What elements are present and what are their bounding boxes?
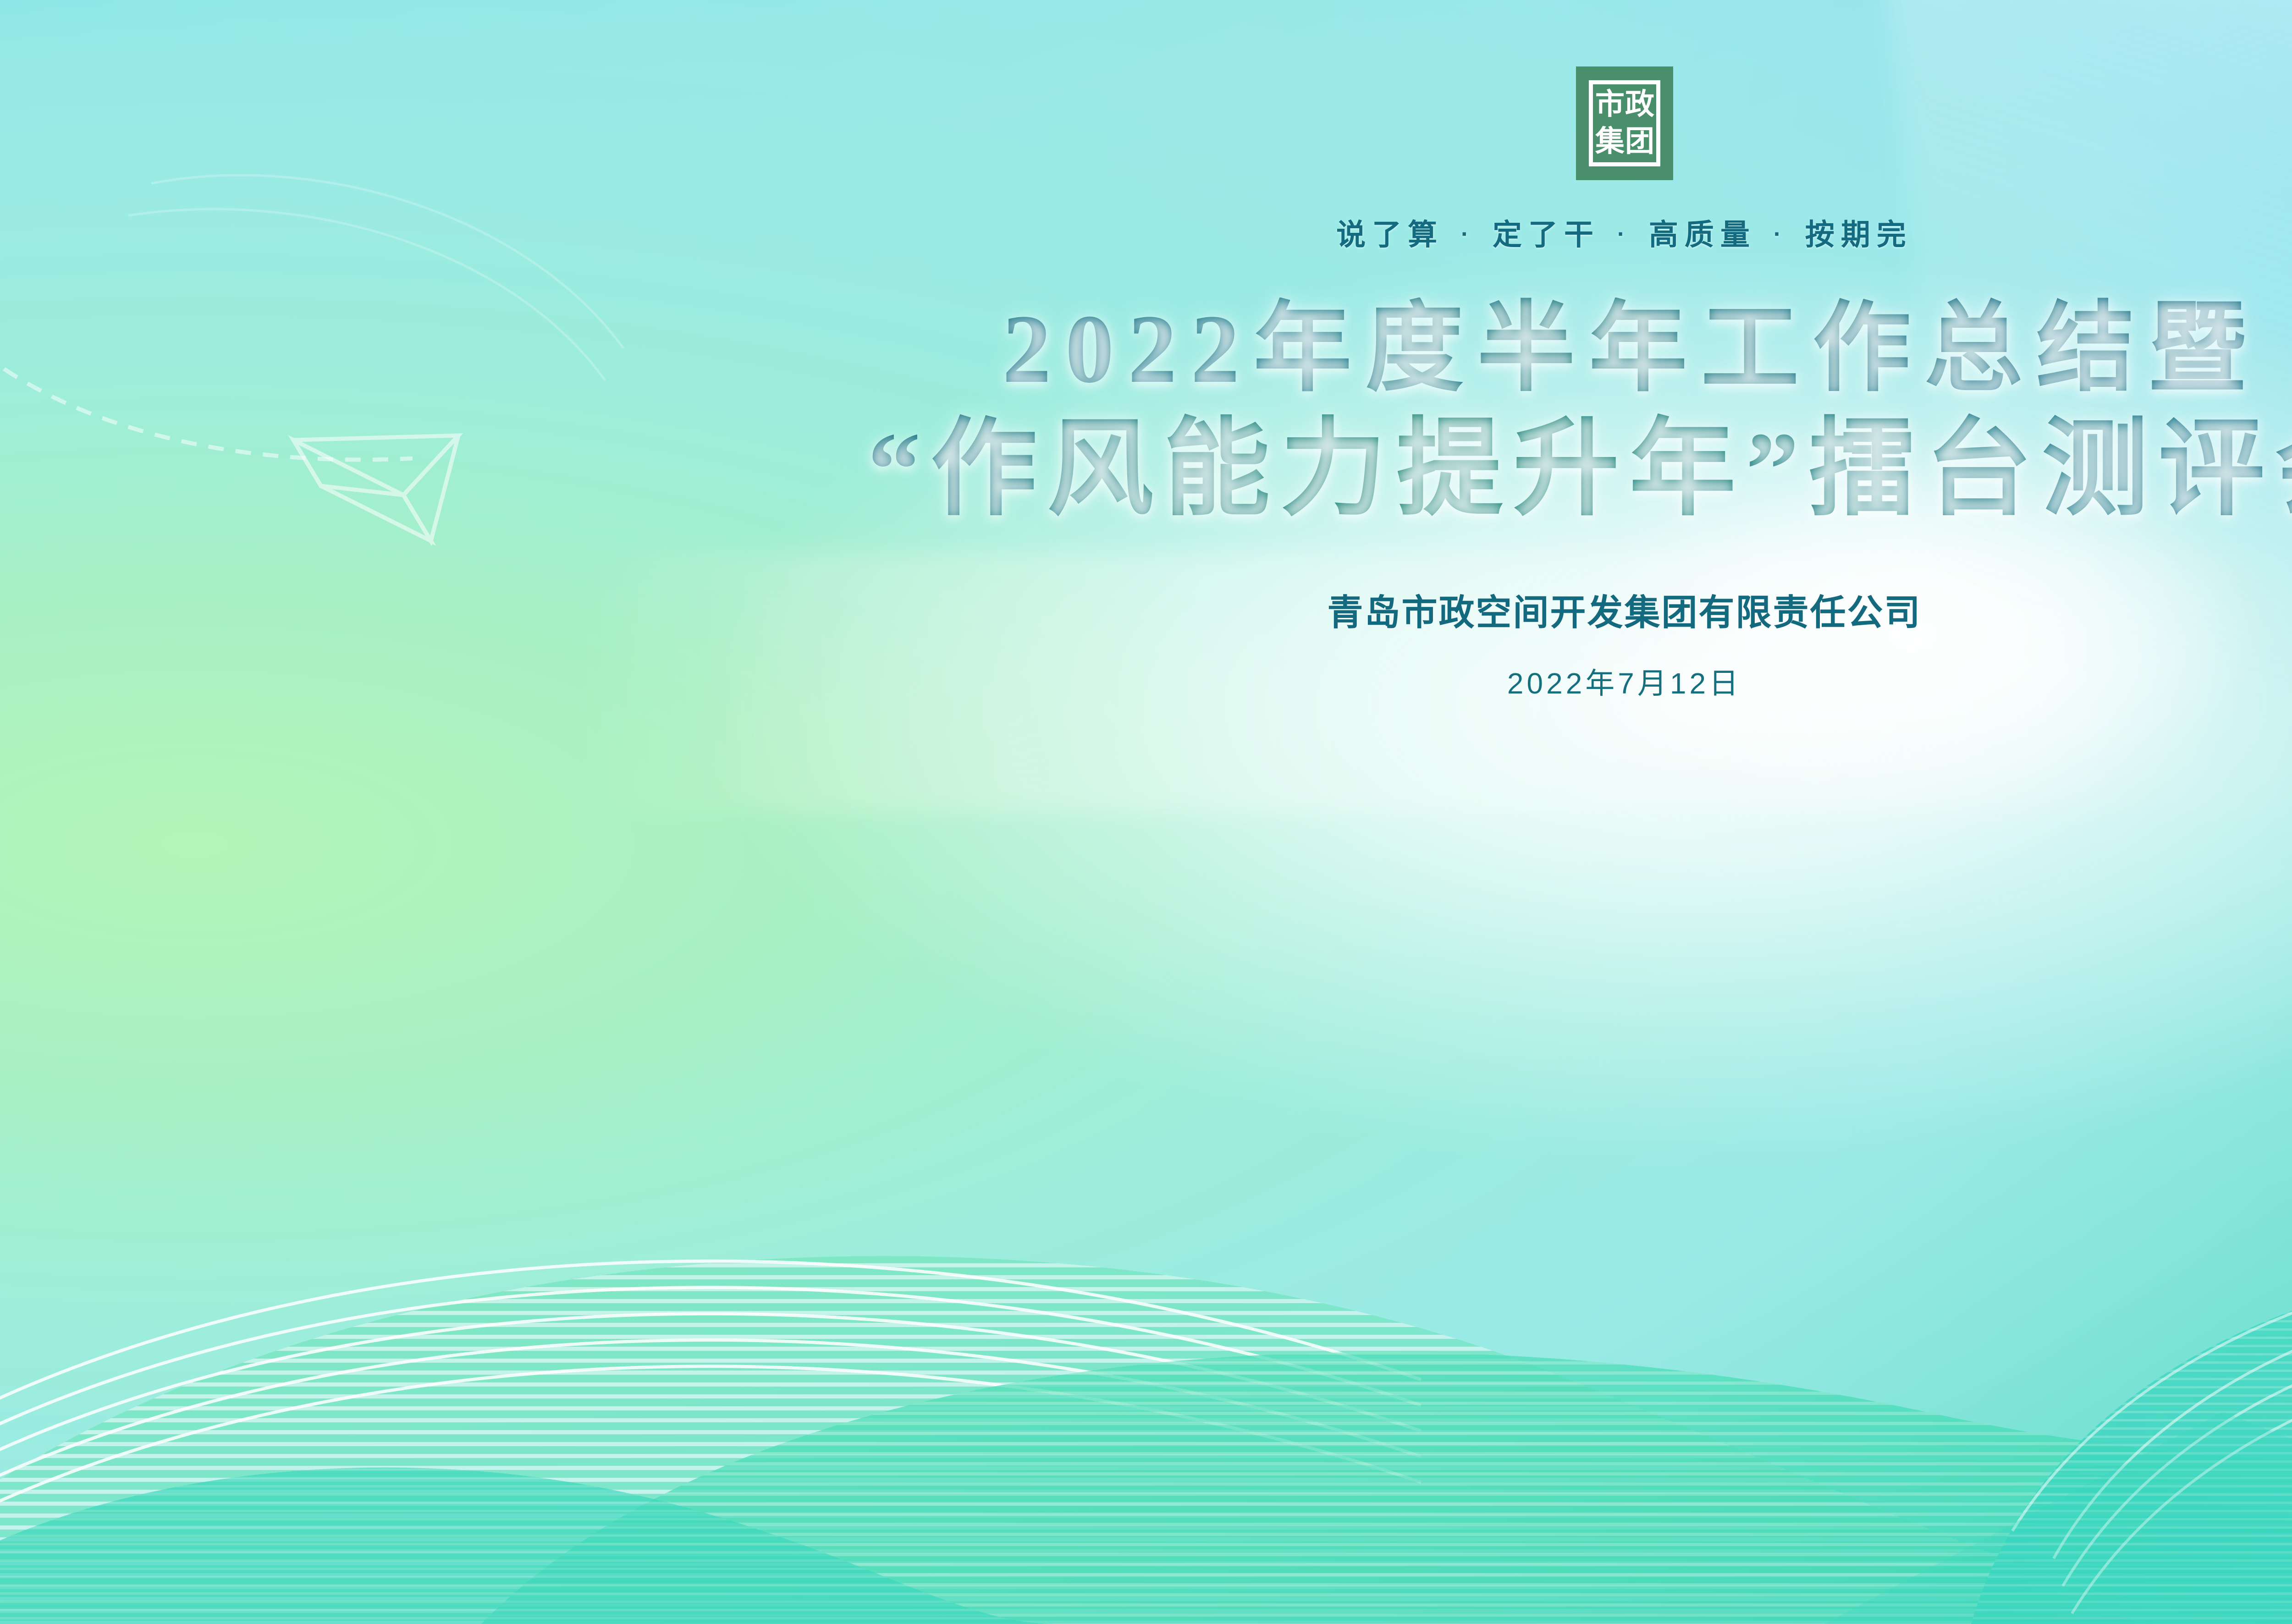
content-column: 市 政 集 团 说了算 · 定了干 · 高质量 · 按期完 2022年度半年工作… (0, 0, 2292, 1624)
logo-char-zheng: 政 (1625, 91, 1653, 118)
logo-char-tuan: 团 (1625, 128, 1653, 155)
logo-char-shi: 市 (1595, 91, 1624, 118)
company-slogan: 说了算 · 定了干 · 高质量 · 按期完 (1336, 211, 1912, 253)
headline-line-2: “作风能力提升年”擂台测评会 (857, 413, 2292, 526)
slogan-part-1: 说了算 (1336, 218, 1444, 251)
slogan-separator-2: · (1614, 221, 1634, 248)
logo-inner-frame: 市 政 集 团 (1589, 80, 1660, 166)
slogan-part-2: 定了干 (1493, 218, 1600, 251)
company-logo: 市 政 集 团 (1576, 66, 1673, 180)
slogan-separator-1: · (1458, 221, 1478, 248)
event-headline: 2022年度半年工作总结暨 “作风能力提升年”擂台测评会 (0, 297, 2292, 526)
event-backdrop: 市 政 集 团 说了算 · 定了干 · 高质量 · 按期完 2022年度半年工作… (0, 0, 2292, 1624)
slogan-part-3: 高质量 (1649, 218, 1756, 251)
slogan-part-4: 按期完 (1805, 218, 1912, 251)
headline-line-1: 2022年度半年工作总结暨 (989, 297, 2260, 402)
logo-char-ji: 集 (1595, 128, 1624, 155)
event-date: 2022年7月12日 (1507, 660, 1741, 702)
slogan-separator-3: · (1771, 221, 1791, 248)
organization-name: 青岛市政空间开发集团有限责任公司 (1327, 584, 1921, 635)
logo-block: 市 政 集 团 (1576, 66, 1673, 180)
